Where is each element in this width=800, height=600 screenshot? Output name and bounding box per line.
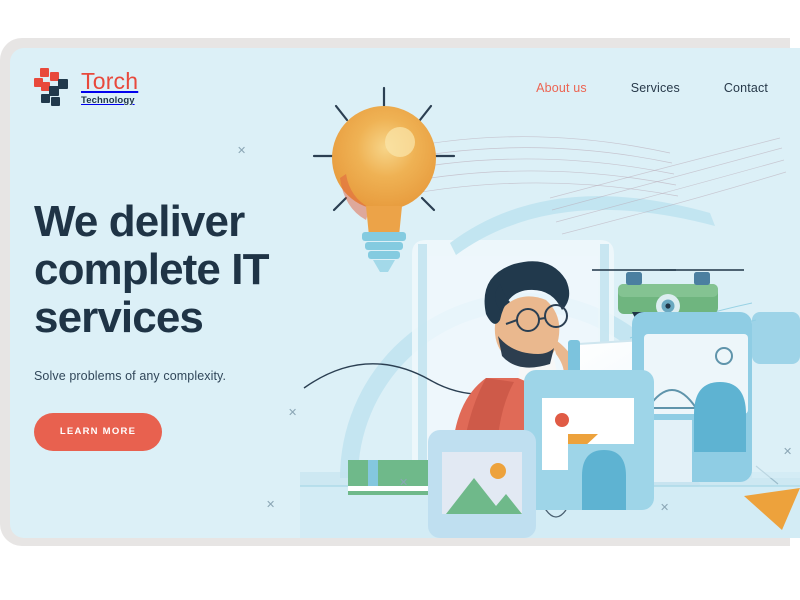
hero-title-line-3: services: [34, 293, 203, 342]
site-header: Torch Technology About us Services Conta…: [10, 48, 800, 128]
nav-item-contact[interactable]: Contact: [724, 81, 768, 95]
page-title: We deliver complete IT services: [34, 198, 344, 342]
torch-pixel-squares-logo-icon: [34, 68, 72, 108]
sparkle-icon: ✕: [783, 447, 792, 458]
hero-copy: We deliver complete IT services Solve pr…: [34, 198, 344, 451]
brand-tagline: Technology: [81, 96, 138, 106]
nav-item-services[interactable]: Services: [631, 81, 680, 95]
learn-more-button[interactable]: LEARN MORE: [34, 413, 162, 451]
hero-title-line-2: complete IT: [34, 245, 269, 294]
nav-item-about-us[interactable]: About us: [536, 81, 587, 95]
hero-subtitle: Solve problems of any complexity.: [34, 369, 344, 383]
brand-name: Torch: [81, 70, 138, 93]
hero-title-line-1: We deliver: [34, 197, 244, 246]
brand-text: Torch Technology: [81, 70, 138, 106]
main-nav: About us Services Contact: [536, 81, 768, 95]
page-canvas: Torch Technology About us Services Conta…: [10, 48, 800, 538]
brand-logo-link[interactable]: Torch Technology: [34, 68, 138, 108]
sparkle-icon: ✕: [266, 500, 275, 511]
sparkle-icon: ✕: [660, 503, 669, 514]
sparkle-icon: ✕: [237, 146, 246, 157]
sparkle-icon: ✕: [399, 478, 408, 489]
